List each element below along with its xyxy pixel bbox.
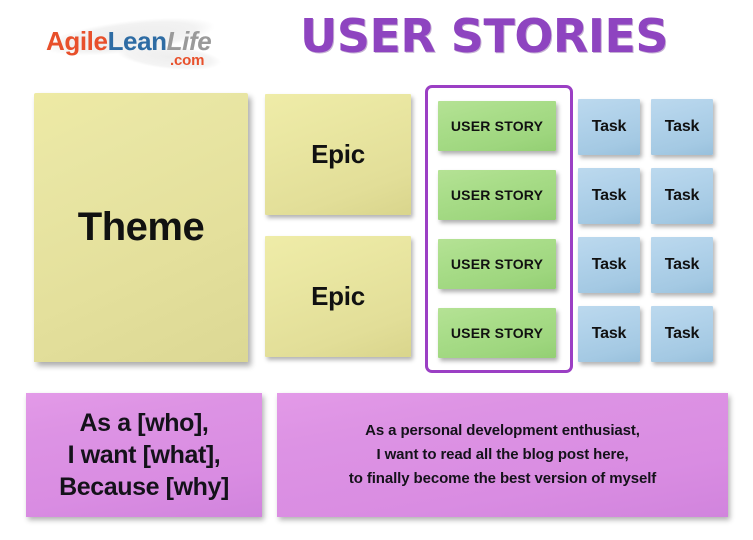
note-task-2[interactable]: Task	[651, 99, 713, 155]
note-user-story-2[interactable]: USER STORY	[438, 170, 556, 220]
note-task-7-label: Task	[592, 325, 626, 343]
template-line-1: As a [who],	[59, 407, 229, 439]
user-story-template-card[interactable]: As a [who], I want [what], Because [why]	[26, 393, 262, 517]
note-user-story-3[interactable]: USER STORY	[438, 239, 556, 289]
note-task-1-label: Task	[592, 118, 626, 136]
user-story-template-text: As a [who], I want [what], Because [why]	[59, 407, 229, 503]
note-task-2-label: Task	[665, 118, 699, 136]
logo-wordmark: AgileLeanLife	[46, 28, 211, 54]
page-title: USER STORIES	[284, 9, 684, 63]
example-line-3: to finally become the best version of my…	[349, 467, 656, 491]
note-user-story-4-label: USER STORY	[451, 325, 543, 341]
note-task-4-label: Task	[665, 187, 699, 205]
note-task-1[interactable]: Task	[578, 99, 640, 155]
note-user-story-3-label: USER STORY	[451, 256, 543, 272]
theme-note-curl	[34, 354, 248, 370]
note-user-story-1-label: USER STORY	[451, 118, 543, 134]
note-task-6[interactable]: Task	[651, 237, 713, 293]
template-line-3: Because [why]	[59, 471, 229, 503]
header: AgileLeanLife .com USER STORIES	[0, 0, 753, 84]
note-epic-1[interactable]: Epic	[265, 94, 411, 215]
note-task-4[interactable]: Task	[651, 168, 713, 224]
example-line-1: As a personal development enthusiast,	[349, 419, 656, 443]
note-user-story-2-label: USER STORY	[451, 187, 543, 203]
note-task-6-label: Task	[665, 256, 699, 274]
note-epic-1-label: Epic	[311, 139, 365, 170]
note-task-8-label: Task	[665, 325, 699, 343]
logo-domain-suffix: .com	[170, 52, 204, 69]
note-theme[interactable]: Theme	[34, 93, 248, 362]
note-task-8[interactable]: Task	[651, 306, 713, 362]
logo-word-lean: Lean	[108, 26, 167, 56]
user-story-example-text: As a personal development enthusiast, I …	[349, 419, 656, 490]
note-user-story-4[interactable]: USER STORY	[438, 308, 556, 358]
site-logo[interactable]: AgileLeanLife .com	[44, 18, 244, 74]
logo-word-agile: Agile	[46, 26, 108, 56]
note-task-5[interactable]: Task	[578, 237, 640, 293]
note-user-story-1[interactable]: USER STORY	[438, 101, 556, 151]
note-task-7[interactable]: Task	[578, 306, 640, 362]
template-line-2: I want [what],	[59, 439, 229, 471]
example-line-2: I want to read all the blog post here,	[349, 443, 656, 467]
note-epic-2-label: Epic	[311, 281, 365, 312]
note-task-3-label: Task	[592, 187, 626, 205]
note-theme-label: Theme	[78, 205, 204, 250]
note-task-3[interactable]: Task	[578, 168, 640, 224]
note-epic-2[interactable]: Epic	[265, 236, 411, 357]
user-story-example-card[interactable]: As a personal development enthusiast, I …	[277, 393, 728, 517]
note-task-5-label: Task	[592, 256, 626, 274]
